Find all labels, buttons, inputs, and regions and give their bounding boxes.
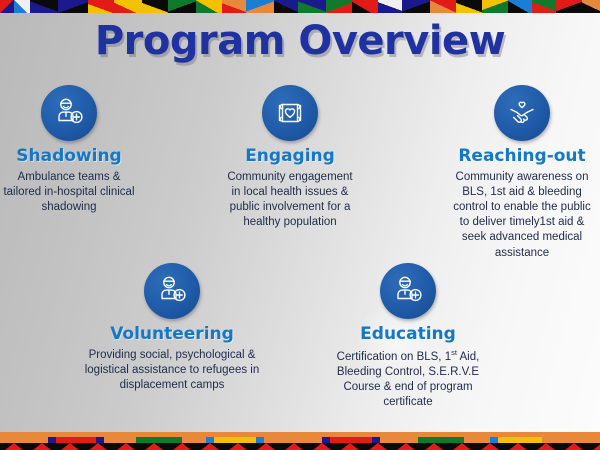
kente-tile bbox=[168, 0, 196, 13]
kente-tile bbox=[196, 0, 222, 13]
pillar-educating: Educating Certification on BLS, 1st Aid,… bbox=[323, 263, 493, 410]
pillar-volunteering: Volunteering Providing social, psycholog… bbox=[80, 263, 264, 393]
pillar-title: Volunteering bbox=[80, 325, 264, 344]
kente-tile bbox=[456, 0, 482, 13]
kente-tile bbox=[326, 0, 352, 13]
page-title: Program Overview bbox=[0, 18, 600, 64]
handshake-heart-icon bbox=[494, 85, 550, 141]
kente-tile bbox=[430, 0, 456, 13]
doctor-icon bbox=[380, 263, 436, 319]
kente-tile bbox=[14, 0, 30, 13]
kente-tile bbox=[0, 0, 14, 13]
doctor-icon bbox=[41, 85, 97, 141]
pillar-engaging: Engaging Community engagement in local h… bbox=[223, 85, 357, 230]
kente-tile bbox=[114, 0, 142, 13]
kente-tile bbox=[556, 0, 582, 13]
pillar-body-prefix: Certification on BLS, 1 bbox=[337, 351, 451, 363]
kente-tile bbox=[142, 0, 168, 13]
pillar-reaching-out: Reaching-out Community awareness on BLS,… bbox=[447, 85, 597, 261]
kente-tile bbox=[88, 0, 114, 13]
pillar-title: Educating bbox=[323, 325, 493, 344]
kente-tile bbox=[508, 0, 532, 13]
pillar-title: Reaching-out bbox=[447, 147, 597, 166]
kente-tile bbox=[482, 0, 508, 13]
pillar-title: Shadowing bbox=[2, 147, 136, 166]
kente-triangle-strip bbox=[0, 443, 600, 450]
pillar-body: Community engagement in local health iss… bbox=[223, 170, 357, 231]
kente-pattern-top-border bbox=[0, 0, 600, 13]
kente-tile bbox=[222, 0, 246, 13]
kente-tile bbox=[532, 0, 556, 13]
pillar-shadowing: Shadowing Ambulance teams & tailored in-… bbox=[2, 85, 136, 215]
pillar-body: Certification on BLS, 1st Aid, Bleeding … bbox=[323, 348, 493, 411]
kente-tile bbox=[582, 0, 600, 13]
pillar-title: Engaging bbox=[223, 147, 357, 166]
kente-tile bbox=[402, 0, 430, 13]
scroll-heart-icon bbox=[262, 85, 318, 141]
pillar-body: Providing social, psychological & logist… bbox=[80, 348, 264, 394]
kente-tile bbox=[378, 0, 402, 13]
doctor-icon bbox=[144, 263, 200, 319]
kente-tile bbox=[30, 0, 58, 13]
pillar-body: Community awareness on BLS, 1st aid & bl… bbox=[447, 170, 597, 261]
slide-canvas: Program Overview Shadowing Ambulance tea… bbox=[0, 0, 600, 450]
kente-tile bbox=[352, 0, 378, 13]
pillar-body: Ambulance teams & tailored in-hospital c… bbox=[2, 170, 136, 216]
kente-pattern-bottom-border bbox=[0, 432, 600, 450]
kente-tile bbox=[58, 0, 88, 13]
kente-tile bbox=[274, 0, 298, 13]
kente-tile bbox=[246, 0, 274, 13]
kente-tile bbox=[298, 0, 326, 13]
